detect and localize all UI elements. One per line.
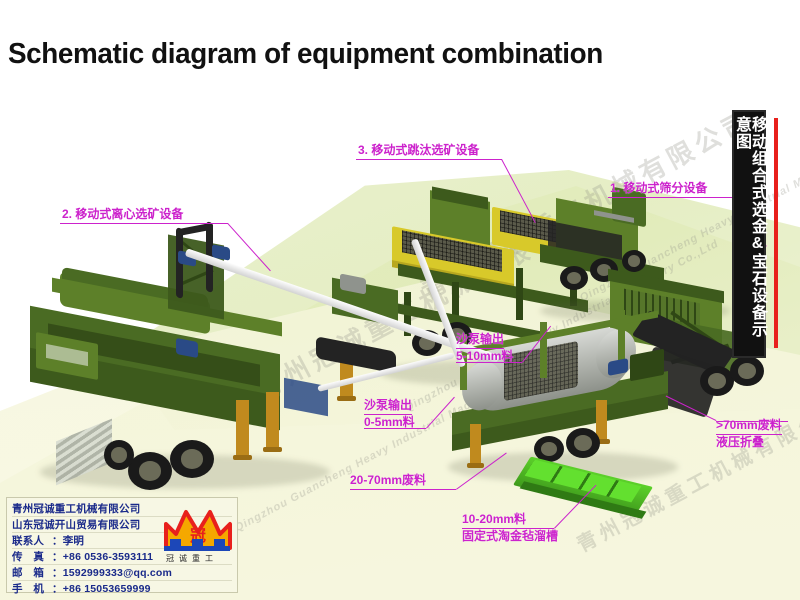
- email-label: 邮 箱: [12, 565, 52, 581]
- fax-label: 传 真: [12, 549, 52, 565]
- annotation-label-3: 3. 移动式跳汰选矿设备: [358, 143, 479, 160]
- jig-leg: [516, 268, 523, 320]
- annotation-text: 3. 移动式跳汰选矿设备: [358, 143, 479, 160]
- trommel-cage-post: [618, 310, 625, 366]
- banner-red-bar: [774, 118, 778, 348]
- company-name-cn: 青州冠诚重工机械有限公司: [12, 503, 140, 515]
- annotation-10-20: 10-20mm料 固定式淘金毡溜槽: [462, 512, 558, 544]
- annotation-text: >70mm废料: [716, 418, 782, 435]
- tire: [104, 440, 134, 470]
- tire: [566, 428, 600, 458]
- annotation-text: 2. 移动式离心选矿设备: [62, 207, 183, 224]
- page-title: Schematic diagram of equipment combinati…: [8, 38, 603, 71]
- annotation-pump-5-10: 沙泵输出 5-10mm料: [456, 332, 513, 364]
- annotation-text: 20-70mm废料: [350, 473, 426, 490]
- tire: [622, 250, 646, 272]
- annotation-text: 固定式淘金毡溜槽: [462, 529, 558, 544]
- tire: [170, 440, 214, 478]
- email-value[interactable]: ：1592999333@qq.com: [52, 567, 172, 579]
- annotation-20-70: 20-70mm废料: [350, 473, 426, 490]
- company-logo: 冠 冠诚重工: [158, 508, 236, 572]
- annotation-pump-0-5: 沙泵输出 0-5mm料: [364, 398, 415, 430]
- mobile-row: 手 机：+86 15053659999: [12, 581, 232, 597]
- hydraulic-leg: [470, 424, 481, 464]
- annotation-text: 沙泵输出: [456, 332, 504, 349]
- company-name-trade: 山东冠诚开山贸易有限公司: [12, 519, 140, 531]
- vertical-banner: 移动组合式选金&宝石设备示意图: [732, 110, 766, 358]
- schematic-canvas: 青州冠诚重工机械有限公司 青州冠诚重工机械有限公司 青州冠诚重工机械有限公司 Q…: [0, 0, 800, 600]
- annotation-text: 液压折叠: [716, 435, 782, 450]
- hydraulic-leg: [266, 392, 279, 448]
- tire: [700, 366, 734, 396]
- annotation-label-2: 2. 移动式离心选矿设备: [62, 207, 183, 224]
- contact-label: 联系人: [12, 533, 52, 549]
- mobile-label: 手 机: [12, 581, 52, 597]
- tire: [128, 452, 172, 490]
- tire: [560, 266, 588, 290]
- fax-value: ：+86 0536-3593111: [52, 551, 153, 563]
- annotation-label-1: 1. 移动式筛分设备: [610, 181, 707, 198]
- annotation-70-plus: >70mm废料 液压折叠: [716, 418, 782, 450]
- mobile-value: ：+86 15053659999: [52, 583, 151, 595]
- contact-value: ：李明: [52, 535, 84, 547]
- logo-subtext: 冠诚重工: [166, 553, 218, 564]
- annotation-text: 沙泵输出: [364, 398, 412, 415]
- tire: [730, 356, 764, 386]
- annotation-text: 1. 移动式筛分设备: [610, 181, 707, 198]
- hydraulic-leg: [596, 400, 607, 440]
- hydraulic-leg: [236, 400, 249, 456]
- annotation-text: 10-20mm料: [462, 512, 526, 529]
- annotation-text: 0-5mm料: [364, 415, 415, 430]
- logo-base-bar: [164, 546, 230, 551]
- annotation-text: 5-10mm料: [456, 349, 513, 364]
